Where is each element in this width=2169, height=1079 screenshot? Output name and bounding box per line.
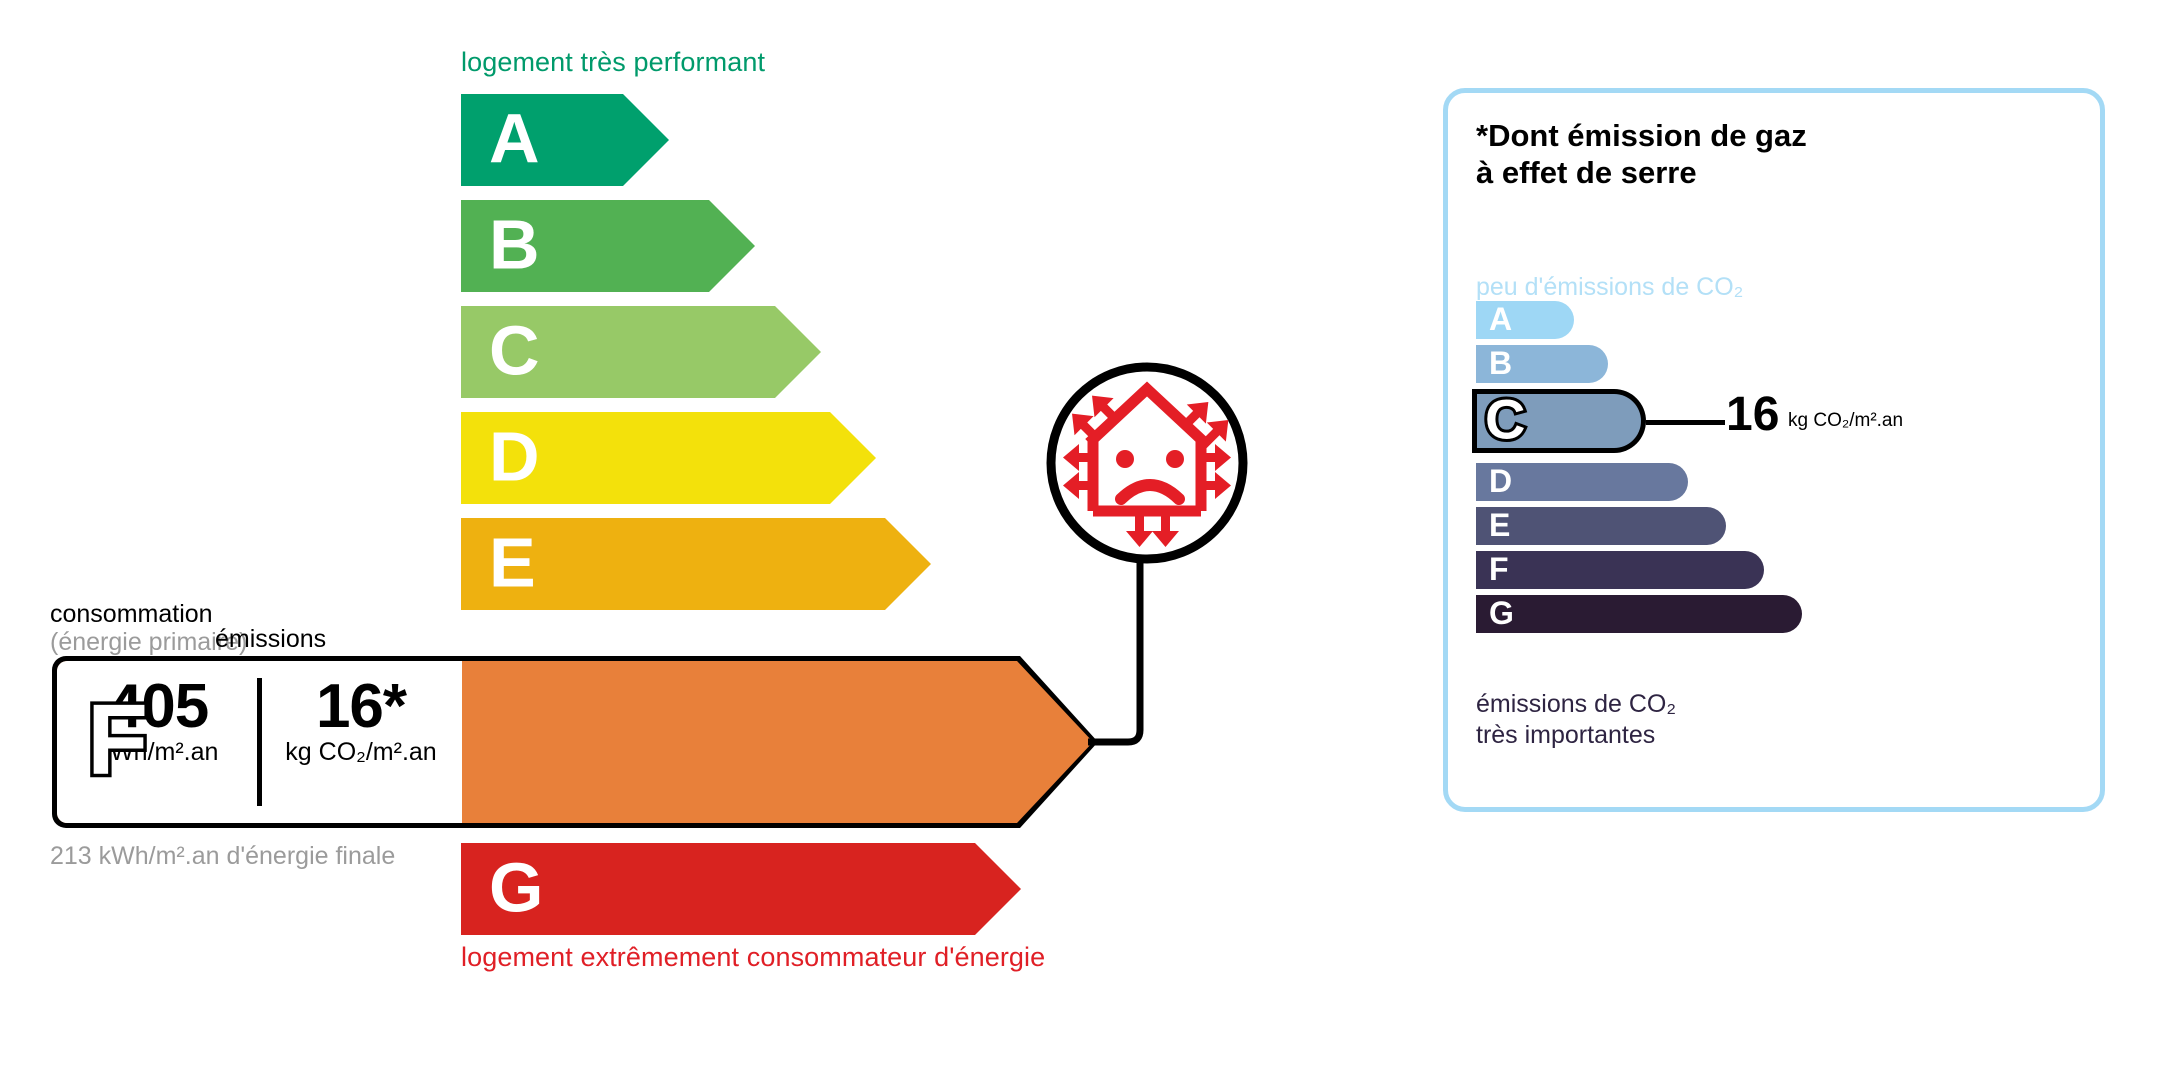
co2-bar-f-letter: F	[1489, 553, 1509, 585]
co2-bar-b: B	[1476, 345, 1608, 383]
energy-band-b: B	[461, 200, 755, 292]
scale-bottom-caption: logement extrêmement consommateur d'éner…	[461, 942, 1045, 973]
co2-emissions-panel: *Dont émission de gaz à effet de serre p…	[1443, 88, 2105, 812]
co2-bar-a-letter: A	[1489, 303, 1512, 335]
energy-band-f-highlighted: 405 kWh/m².an 16* kg CO₂/m².an F	[52, 656, 1098, 828]
energy-band-c-letter: C	[489, 316, 540, 386]
co2-bar-d-letter: D	[1489, 465, 1512, 497]
value-box-divider	[257, 678, 262, 806]
consumption-header-line1: consommation	[50, 600, 213, 628]
energy-band-f-letter: F	[87, 690, 148, 790]
energy-band-g: G	[461, 843, 1021, 935]
energy-band-b-letter: B	[489, 210, 540, 280]
energy-band-a-letter: A	[489, 104, 540, 174]
co2-bar-e: E	[1476, 507, 1726, 545]
energy-band-a: A	[461, 94, 669, 186]
co2-value: 16	[1726, 391, 1779, 439]
final-energy-note: 213 kWh/m².an d'énergie finale	[50, 840, 395, 873]
co2-bar-c-highlighted: C	[1472, 389, 1646, 453]
energy-band-d-letter: D	[489, 422, 540, 492]
callout-connector	[1088, 560, 1148, 748]
co2-bottom-label: émissions de CO₂ très importantes	[1476, 689, 1676, 752]
house-heat-loss-sad-face-icon	[1037, 355, 1257, 585]
co2-value-leader-line	[1646, 420, 1725, 425]
co2-bar-a: A	[1476, 301, 1574, 339]
co2-bar-e-letter: E	[1489, 509, 1510, 541]
energy-band-d: D	[461, 412, 876, 504]
co2-bar-b-letter: B	[1489, 347, 1512, 379]
co2-bar-f: F	[1476, 551, 1764, 589]
emission-unit: kg CO₂/m².an	[266, 739, 456, 767]
co2-top-label: peu d'émissions de CO₂	[1476, 273, 1743, 302]
energy-band-g-letter: G	[489, 853, 543, 923]
energy-band-c: C	[461, 306, 821, 398]
co2-bar-c-letter: C	[1485, 391, 1525, 447]
co2-value-unit: kg CO₂/m².an	[1788, 411, 1903, 430]
emission-value-block: 16* kg CO₂/m².an	[266, 674, 456, 766]
co2-panel-title: *Dont émission de gaz à effet de serre	[1476, 117, 1807, 191]
energy-band-e: E	[461, 518, 931, 610]
emission-value: 16*	[266, 674, 456, 741]
emissions-header: émissions	[215, 625, 326, 653]
energy-performance-scale: logement très performant A B C D E conso…	[0, 0, 1300, 1079]
energy-band-e-letter: E	[489, 528, 536, 598]
co2-bar-d: D	[1476, 463, 1688, 501]
co2-bar-g-letter: G	[1489, 597, 1514, 629]
scale-top-caption: logement très performant	[461, 47, 765, 78]
co2-bar-g: G	[1476, 595, 1802, 633]
